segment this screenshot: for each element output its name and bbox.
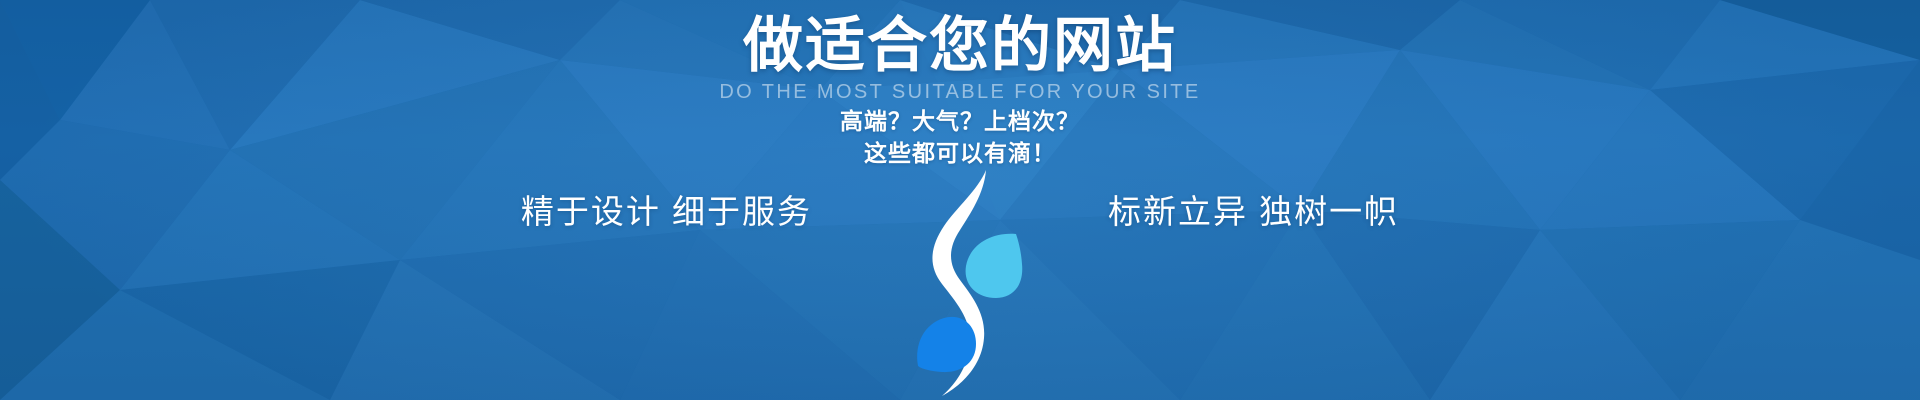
subheadline-line-1: 高端？大气？上档次？: [0, 105, 1920, 137]
slogan-left: 精于设计 细于服务: [521, 190, 812, 234]
page-title: 做适合您的网站: [0, 14, 1920, 77]
subheadline-line-2: 这些都可以有滴！: [0, 137, 1920, 169]
leaf-sprout-logo-icon: [908, 168, 1028, 400]
slogan-right: 标新立异 独树一帜: [1108, 190, 1399, 234]
hero-banner: 做适合您的网站 DO THE MOST SUITABLE FOR YOUR SI…: [0, 0, 1920, 400]
subheadline-block: 高端？大气？上档次？ 这些都可以有滴！: [0, 105, 1920, 169]
headline-block: 做适合您的网站 DO THE MOST SUITABLE FOR YOUR SI…: [0, 14, 1920, 103]
page-subtitle-english: DO THE MOST SUITABLE FOR YOUR SITE: [0, 81, 1920, 103]
